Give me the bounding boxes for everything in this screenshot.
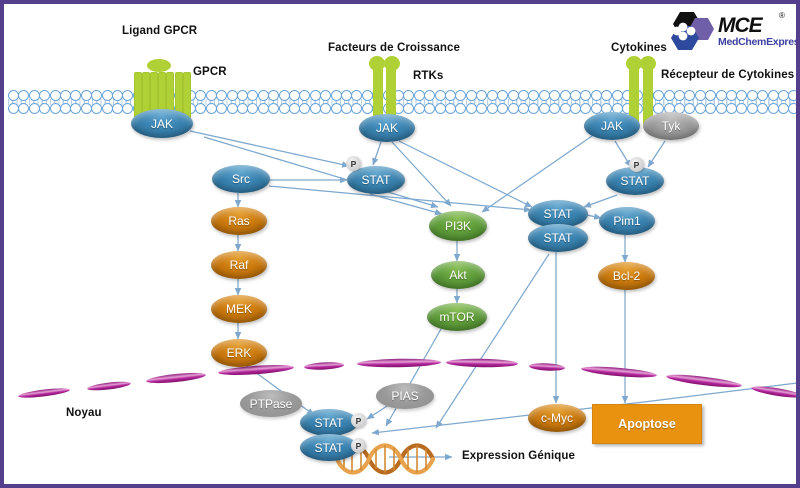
membrane-lipid-head	[518, 103, 529, 114]
node-tyk-label: Tyk	[662, 119, 681, 133]
node-apoptose-label: Apoptose	[618, 417, 676, 431]
membrane-lipid-head	[601, 90, 612, 101]
membrane-lipid-head	[476, 90, 487, 101]
membrane-lipid-head	[539, 103, 550, 114]
node-stat-cytokine-label: STAT	[621, 174, 650, 188]
membrane-lipid-head	[289, 103, 300, 114]
node-stat-nuclear-top-label: STAT	[315, 416, 344, 430]
node-jak-rtk-label: JAK	[376, 121, 398, 135]
node-bcl2-label: Bcl-2	[613, 269, 640, 283]
membrane-lipid-head	[435, 103, 446, 114]
membrane-lipid-head	[705, 90, 716, 101]
membrane-lipid-head	[195, 90, 206, 101]
membrane-lipid-head	[736, 90, 747, 101]
label-gpcr: GPCR	[193, 66, 227, 78]
membrane-lipid-head	[91, 103, 102, 114]
membrane-lipid-head	[403, 90, 414, 101]
membrane-lipid-head	[508, 103, 519, 114]
membrane-lipid-head	[237, 90, 248, 101]
membrane-lipid-head	[716, 90, 727, 101]
membrane-lipid-head	[29, 103, 40, 114]
phospho-badge-stat-nuclear-bottom: P	[351, 438, 366, 453]
membrane-lipid-head	[591, 90, 602, 101]
node-apoptose[interactable]: Apoptose	[592, 404, 702, 444]
phospho-badge-stat-cytokine: P	[629, 157, 644, 172]
membrane-lipid-head	[455, 90, 466, 101]
mce-hexagon-logo-icon	[666, 10, 718, 54]
mce-logo: MCE MedChemExpress ®	[666, 10, 788, 56]
node-pi3k[interactable]: PI3K	[429, 211, 487, 241]
membrane-lipid-head	[227, 103, 238, 114]
membrane-lipid-head	[455, 103, 466, 114]
node-jak-cytokine-label: JAK	[601, 119, 623, 133]
membrane-lipid-head	[747, 90, 758, 101]
node-pim1[interactable]: Pim1	[599, 207, 655, 235]
node-pi3k-label: PI3K	[445, 219, 471, 233]
membrane-lipid-head	[60, 90, 71, 101]
membrane-lipid-head	[70, 103, 81, 114]
membrane-lipid-head	[716, 103, 727, 114]
membrane-lipid-head	[664, 90, 675, 101]
membrane-lipid-head	[705, 103, 716, 114]
membrane-lipid-head	[195, 103, 206, 114]
membrane-lipid-head	[684, 103, 695, 114]
membrane-lipid-head	[580, 103, 591, 114]
membrane-lipid-head	[81, 103, 92, 114]
membrane-lipid-head	[206, 103, 217, 114]
membrane-lipid-head	[102, 103, 113, 114]
label-ligand-gpcr: Ligand GPCR	[122, 25, 197, 37]
node-jak-gpcr-label: JAK	[151, 117, 173, 131]
node-tyk[interactable]: Tyk	[643, 112, 699, 140]
membrane-lipid-head	[612, 90, 623, 101]
membrane-lipid-head	[206, 90, 217, 101]
membrane-lipid-head	[768, 103, 779, 114]
membrane-lipid-head	[81, 90, 92, 101]
mce-logo-subtitle: MedChemExpress	[718, 36, 800, 48]
node-raf[interactable]: Raf	[211, 251, 267, 279]
membrane-lipid-head	[29, 90, 40, 101]
gpcr-ligand	[147, 59, 171, 72]
membrane-lipid-head	[351, 90, 362, 101]
pathway-diagram: MCE MedChemExpress ®	[0, 0, 800, 488]
membrane-lipid-head	[424, 103, 435, 114]
membrane-lipid-head	[320, 103, 331, 114]
node-src[interactable]: Src	[212, 165, 270, 193]
node-stat-nuclear-top[interactable]: STAT	[300, 409, 358, 436]
node-pias[interactable]: PIAS	[376, 383, 434, 409]
node-jak-cytokine[interactable]: JAK	[584, 112, 640, 140]
node-stat-nuclear-bottom-label: STAT	[315, 441, 344, 455]
membrane-lipid-head	[497, 90, 508, 101]
membrane-lipid-head	[695, 90, 706, 101]
membrane-lipid-head	[424, 90, 435, 101]
membrane-lipid-head	[736, 103, 747, 114]
membrane-lipid-head	[684, 90, 695, 101]
membrane-lipid-head	[757, 90, 768, 101]
membrane-lipid-head	[39, 103, 50, 114]
node-mtor[interactable]: mTOR	[427, 303, 487, 331]
membrane-lipid-head	[788, 103, 799, 114]
membrane-lipid-head	[487, 103, 498, 114]
phospho-badge-stat-nuclear-bottom-label: P	[356, 441, 362, 451]
label-rtks: RTKs	[413, 70, 443, 82]
membrane-lipid-head	[580, 90, 591, 101]
membrane-lipid-head	[310, 90, 321, 101]
membrane-lipid-head	[18, 103, 29, 114]
membrane-lipid-head	[320, 90, 331, 101]
phospho-badge-stat-nuclear-top: P	[351, 413, 366, 428]
node-ptpase[interactable]: PTPase	[240, 390, 302, 417]
membrane-lipid-head	[487, 90, 498, 101]
node-mek[interactable]: MEK	[211, 295, 267, 323]
node-cmyc-label: c-Myc	[541, 411, 573, 425]
membrane-lipid-head	[279, 103, 290, 114]
membrane-lipid-head	[247, 90, 258, 101]
membrane-lipid-head	[788, 90, 799, 101]
membrane-lipid-head	[528, 90, 539, 101]
membrane-lipid-head	[674, 90, 685, 101]
phospho-badge-stat-rtk-label: P	[351, 159, 357, 169]
right-feed-polyline	[644, 383, 797, 402]
membrane-lipid-head	[8, 103, 19, 114]
membrane-lipid-head	[91, 90, 102, 101]
membrane-lipid-head	[299, 90, 310, 101]
membrane-lipid-head	[778, 90, 789, 101]
membrane-lipid-head	[726, 90, 737, 101]
membrane-lipid-head	[476, 103, 487, 114]
phospho-badge-stat-cytokine-label: P	[634, 160, 640, 170]
membrane-lipid-head	[539, 90, 550, 101]
node-akt[interactable]: Akt	[431, 261, 485, 289]
membrane-lipid-head	[445, 90, 456, 101]
membrane-lipid-head	[331, 90, 342, 101]
label-cytokines: Cytokines	[611, 42, 667, 54]
membrane-lipid-head	[247, 103, 258, 114]
node-ptpase-label: PTPase	[250, 397, 293, 411]
node-akt-label: Akt	[449, 268, 466, 282]
node-bcl2[interactable]: Bcl-2	[598, 262, 655, 290]
node-erk[interactable]: ERK	[211, 339, 267, 367]
node-raf-label: Raf	[230, 258, 249, 272]
membrane-lipid-head	[351, 103, 362, 114]
label-nucleus: Noyau	[66, 407, 102, 419]
membrane-lipid-head	[403, 103, 414, 114]
membrane-lipid-head	[560, 90, 571, 101]
node-cmyc[interactable]: c-Myc	[528, 404, 586, 432]
membrane-lipid-head	[60, 103, 71, 114]
rtk-receptor	[369, 56, 403, 122]
membrane-lipid-head	[310, 103, 321, 114]
membrane-lipid-head	[508, 90, 519, 101]
node-stat-dimer-bottom-label: STAT	[544, 231, 573, 245]
node-erk-label: ERK	[227, 346, 252, 360]
membrane-lipid-head	[549, 103, 560, 114]
membrane-lipid-head	[747, 103, 758, 114]
node-src-label: Src	[232, 172, 250, 186]
membrane-lipid-head	[560, 103, 571, 114]
membrane-lipid-head	[50, 103, 61, 114]
membrane-lipid-head	[112, 90, 123, 101]
membrane-lipid-head	[299, 103, 310, 114]
node-stat-dimer-bottom[interactable]: STAT	[528, 224, 588, 252]
membrane-lipid-head	[227, 90, 238, 101]
membrane-lipid-head	[341, 103, 352, 114]
node-pim1-label: Pim1	[613, 214, 640, 228]
node-jak-rtk[interactable]: JAK	[359, 114, 415, 142]
registered-mark: ®	[779, 11, 785, 20]
membrane-lipid-head	[726, 103, 737, 114]
membrane-lipid-head	[570, 103, 581, 114]
membrane-lipid-head	[414, 90, 425, 101]
membrane-lipid-head	[528, 103, 539, 114]
label-growth-factors: Facteurs de Croissance	[328, 42, 460, 54]
membrane-lipid-head	[268, 103, 279, 114]
membrane-lipid-head	[549, 90, 560, 101]
membrane-lipid-head	[8, 90, 19, 101]
phospho-badge-stat-nuclear-top-label: P	[356, 416, 362, 426]
node-pias-label: PIAS	[391, 389, 418, 403]
node-mek-label: MEK	[226, 302, 252, 316]
node-ras[interactable]: Ras	[211, 207, 267, 235]
membrane-lipid-head	[39, 90, 50, 101]
membrane-lipid-head	[216, 103, 227, 114]
membrane-lipid-head	[497, 103, 508, 114]
node-ras-label: Ras	[228, 214, 249, 228]
membrane-lipid-head	[112, 103, 123, 114]
membrane-lipid-head	[18, 90, 29, 101]
membrane-lipid-head	[435, 90, 446, 101]
membrane-lipid-head	[570, 90, 581, 101]
membrane-lipid-head	[445, 103, 456, 114]
membrane-lipid-head	[102, 90, 113, 101]
node-stat-rtk-label: STAT	[362, 173, 391, 187]
membrane-lipid-head	[768, 90, 779, 101]
phospho-badge-stat-rtk: P	[346, 156, 361, 171]
membrane-lipid-head	[279, 90, 290, 101]
membrane-lipid-head	[331, 103, 342, 114]
node-stat-dimer-top-label: STAT	[544, 207, 573, 221]
node-jak-gpcr[interactable]: JAK	[131, 109, 193, 138]
node-stat-nuclear-bottom[interactable]: STAT	[300, 434, 358, 461]
membrane-lipid-head	[70, 90, 81, 101]
mce-logo-text: MCE	[718, 14, 762, 38]
membrane-lipid-head	[289, 90, 300, 101]
membrane-lipid-head	[518, 90, 529, 101]
membrane-lipid-head	[466, 103, 477, 114]
membrane-lipid-head	[50, 90, 61, 101]
membrane-lipid-head	[258, 103, 269, 114]
membrane-lipid-head	[695, 103, 706, 114]
label-cytokine-receptor: Récepteur de Cytokines	[661, 69, 794, 81]
membrane-lipid-head	[341, 90, 352, 101]
label-gene-expression: Expression Génique	[462, 450, 575, 462]
membrane-lipid-head	[258, 90, 269, 101]
membrane-lipid-head	[757, 103, 768, 114]
membrane-lipid-head	[268, 90, 279, 101]
node-mtor-label: mTOR	[439, 310, 474, 324]
membrane-lipid-head	[216, 90, 227, 101]
membrane-lipid-head	[237, 103, 248, 114]
membrane-lipid-head	[466, 90, 477, 101]
membrane-lipid-head	[414, 103, 425, 114]
membrane-lipid-head	[778, 103, 789, 114]
